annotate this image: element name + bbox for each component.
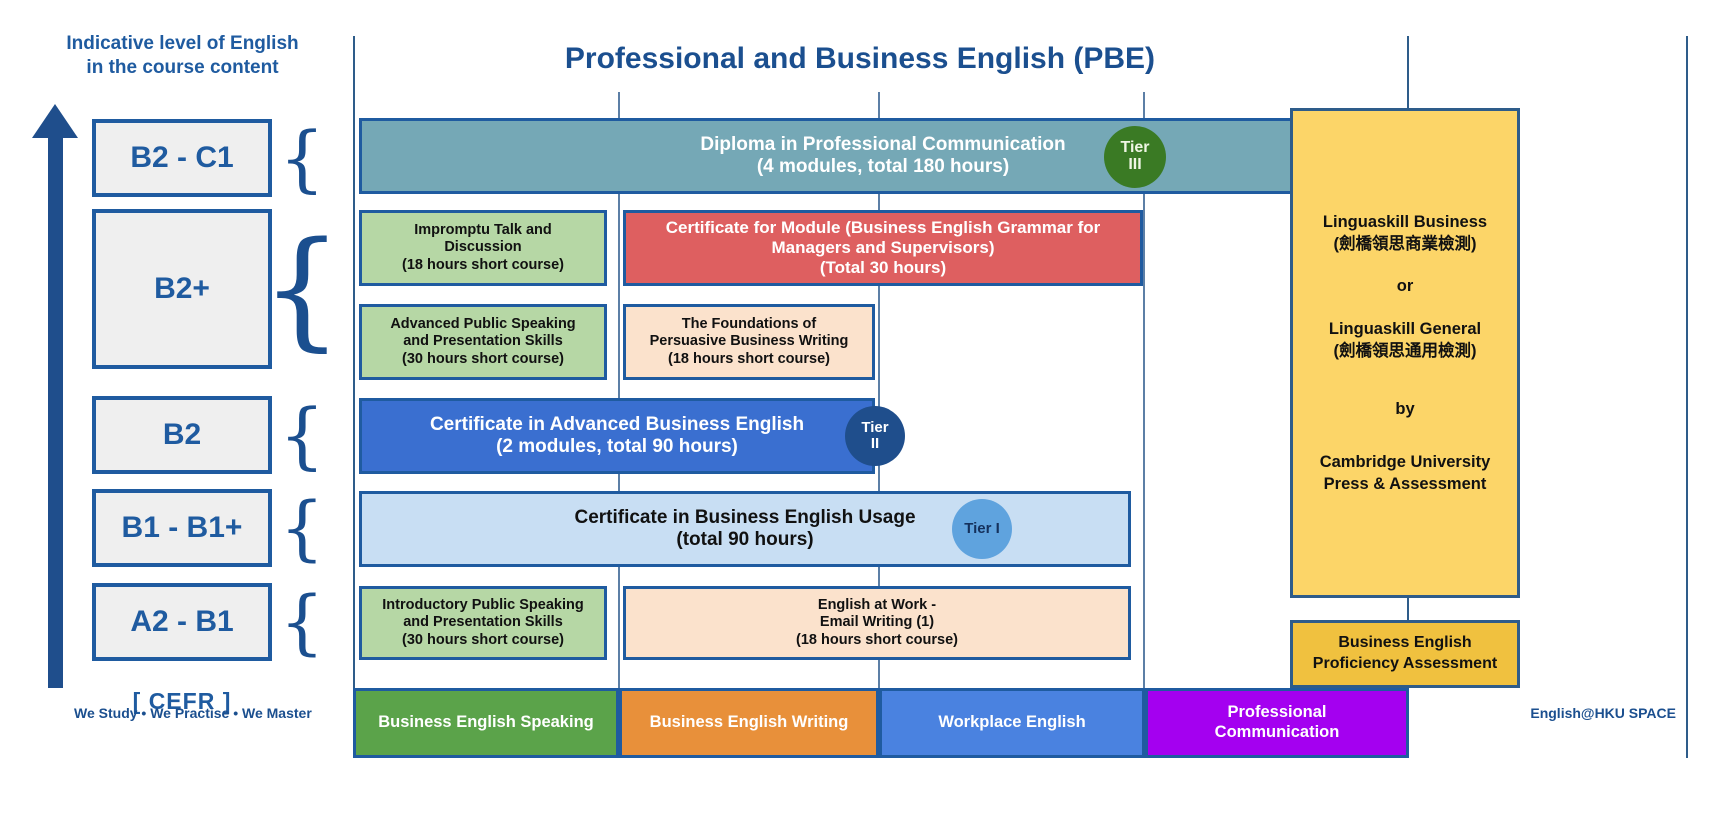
programme-diploma-professional-communication[interactable]: Diploma in Professional Communication (4… [359,118,1407,194]
brace-icon-b2: { [282,390,322,480]
business-english-proficiency-assessment[interactable]: Business English Proficiency Assessment [1290,620,1520,688]
assessment-provider-line2: Press & Assessment [1324,473,1487,495]
tier-badge-label: Tier I [964,521,1000,537]
cefr-column-title: Indicative level of English in the cours… [40,32,325,80]
programme-title-line3: (30 hours short course) [402,632,564,649]
cefr-title-line1: Indicative level of English [40,32,325,56]
programme-impromptu-talk-and-discussion[interactable]: Impromptu Talk and Discussion (18 hours … [359,210,607,286]
cefr-level-b2plus: B2+ [92,209,272,369]
tier-badge-value: II [871,436,879,452]
assessment-linguaskill-panel[interactable]: Linguaskill Business (劍橋領思商業檢測) or Lingu… [1290,108,1520,598]
tier-badge-label: Tier [1120,140,1149,157]
programme-title-line3: (18 hours short course) [796,632,958,649]
programme-title-line3: (18 hours short course) [402,257,564,274]
programme-title-line2: (2 modules, total 90 hours) [496,436,738,458]
tier-badge-i: Tier I [952,499,1012,559]
programme-title-line2: (4 modules, total 180 hours) [757,156,1009,178]
programme-title-line2: Discussion [444,239,521,256]
grid-line-far-right [1686,36,1688,758]
programme-foundations-persuasive-business-writing[interactable]: The Foundations of Persuasive Business W… [623,304,875,380]
grid-line-left [353,36,355,758]
linguaskill-general-en: Linguaskill General [1329,318,1481,340]
cefr-level-a2-b1: A2 - B1 [92,583,272,661]
programme-title-line2: and Presentation Skills [403,333,563,350]
programme-title-line2: Email Writing (1) [820,614,934,631]
footer-brand: English@HKU SPACE [1530,705,1676,721]
tier-badge-value: III [1128,157,1141,174]
upward-arrow-shaft-icon [48,128,63,688]
programme-title-line1: Diploma in Professional Communication [700,134,1065,156]
strand-label: Workplace English [938,713,1085,733]
programme-title-line3: (Total 30 hours) [820,258,946,278]
cefr-level-label: A2 - B1 [130,605,233,639]
strand-business-english-writing[interactable]: Business English Writing [619,688,879,758]
strand-label: Business English Writing [650,713,849,733]
page-title: Professional and Business English (PBE) [360,42,1360,76]
programme-title-line2: Managers and Supervisors) [772,238,995,258]
tier-badge-iii: Tier III [1104,126,1166,188]
cefr-level-label: B2+ [154,272,210,306]
programme-title-line1: Introductory Public Speaking [382,597,583,614]
programme-advanced-public-speaking[interactable]: Advanced Public Speaking and Presentatio… [359,304,607,380]
footer-tagline: We Study • We Practise • We Master [74,705,312,721]
programme-introductory-public-speaking[interactable]: Introductory Public Speaking and Present… [359,586,607,660]
programme-title-line1: Certificate in Business English Usage [574,507,915,529]
strand-business-english-speaking[interactable]: Business English Speaking [353,688,619,758]
programme-title-line1: Impromptu Talk and [414,222,552,239]
beap-label-line1: Business English [1338,633,1471,654]
brace-icon-b2c1: { [282,112,322,204]
tier-badge-label: Tier [861,420,888,436]
strand-label-line1: Professional [1227,703,1326,723]
strand-professional-communication[interactable]: Professional Communication [1145,688,1409,758]
strand-label-line2: Communication [1215,723,1340,743]
brace-icon-b1: { [282,484,322,572]
programme-title-line3: (18 hours short course) [668,351,830,368]
programme-title-line2: and Presentation Skills [403,614,563,631]
programme-title-line1: English at Work - [818,597,936,614]
programme-english-at-work-email-writing[interactable]: English at Work - Email Writing (1) (18 … [623,586,1131,660]
assessment-provider-line1: Cambridge University [1320,451,1491,473]
brace-icon-a2b1: { [282,578,322,666]
programme-title-line1: The Foundations of [682,316,817,333]
programme-title-line1: Advanced Public Speaking [390,316,575,333]
tier-badge-ii: Tier II [845,406,905,466]
linguaskill-business-zh: (劍橋領思商業檢測) [1334,233,1477,255]
linguaskill-business-en: Linguaskill Business [1323,211,1487,233]
programme-certificate-for-module-grammar[interactable]: Certificate for Module (Business English… [623,210,1143,286]
programme-certificate-business-english-usage[interactable]: Certificate in Business English Usage (t… [359,491,1131,567]
programme-title-line2: Persuasive Business Writing [650,333,849,350]
cefr-level-b2-c1: B2 - C1 [92,119,272,197]
strand-workplace-english[interactable]: Workplace English [879,688,1145,758]
linguaskill-general-zh: (劍橋領思通用檢測) [1334,340,1477,362]
cefr-level-b2: B2 [92,396,272,474]
cefr-level-label: B2 [163,418,201,452]
programme-title-line1: Certificate for Module (Business English… [666,218,1101,238]
programme-title-line1: Certificate in Advanced Business English [430,414,804,436]
cefr-title-line2: in the course content [40,56,325,80]
assessment-or: or [1397,275,1414,297]
cefr-level-label: B1 - B1+ [122,511,243,545]
cefr-level-label: B2 - C1 [130,141,233,175]
programme-certificate-advanced-business-english[interactable]: Certificate in Advanced Business English… [359,398,875,474]
brace-icon-b2plus: { [282,205,322,373]
assessment-by: by [1395,398,1414,420]
beap-label-line2: Proficiency Assessment [1313,654,1497,675]
cefr-level-b1-b1plus: B1 - B1+ [92,489,272,567]
programme-title-line3: (30 hours short course) [402,351,564,368]
programme-title-line2: (total 90 hours) [676,529,813,551]
strand-label: Business English Speaking [378,713,593,733]
